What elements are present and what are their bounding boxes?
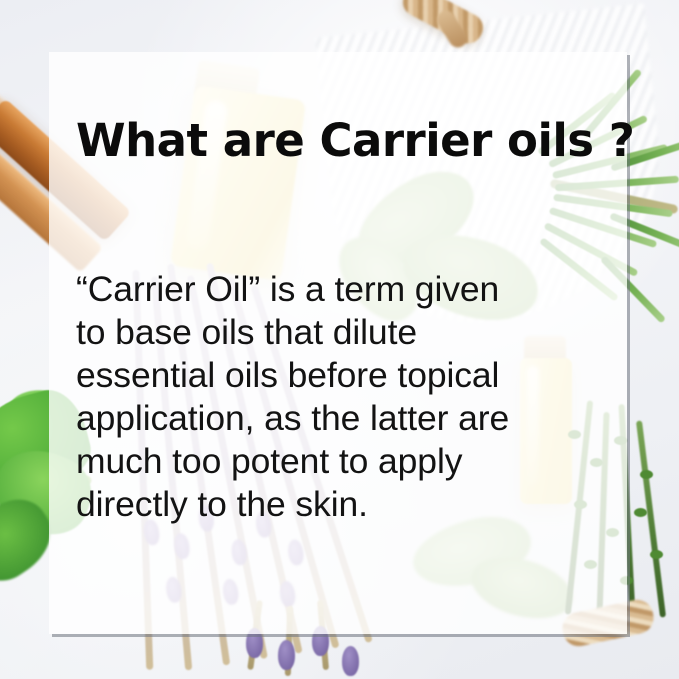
thyme-leaf: [650, 550, 663, 559]
thyme-stem: [636, 420, 666, 617]
thyme-leaf: [634, 508, 647, 517]
lavender-bud-foreground: [342, 646, 359, 676]
body-paragraph: “Carrier Oil” is a term given to base oi…: [76, 268, 616, 526]
body-line: directly to the skin.: [76, 483, 616, 526]
body-line: application, as the latter are: [76, 397, 616, 440]
page-title: What are Carrier oils ?: [76, 118, 616, 165]
lavender-bud-foreground: [278, 640, 295, 670]
body-line: much too potent to apply: [76, 440, 616, 483]
graphic-canvas: What are Carrier oils ? “Carrier Oil” is…: [0, 0, 679, 679]
body-line: essential oils before topical: [76, 354, 616, 397]
body-line: to base oils that dilute: [76, 311, 616, 354]
body-line: “Carrier Oil” is a term given: [76, 268, 616, 311]
thyme-leaf: [640, 470, 653, 479]
